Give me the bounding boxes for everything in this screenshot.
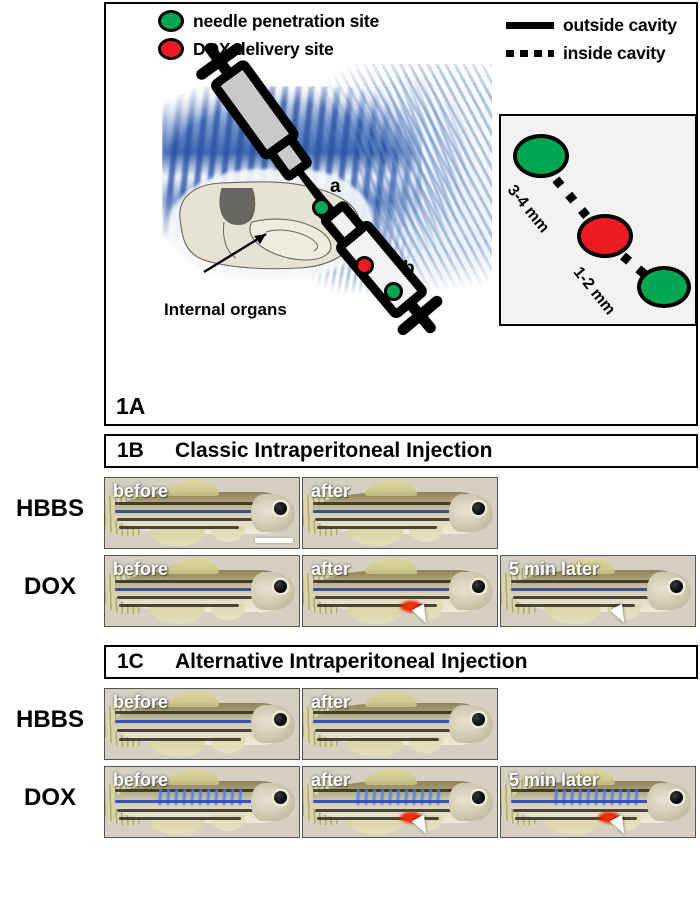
photo-cell-1c-dox-after: after	[302, 766, 498, 838]
dox-delivery-marker	[355, 256, 374, 275]
cell-tag-after: after	[311, 559, 350, 580]
photo-cell-1c-dox-5min: 5 min later	[500, 766, 696, 838]
scale-bar	[255, 538, 293, 543]
cell-tag-after: after	[311, 770, 350, 791]
photo-cell-1b-dox-before: before	[104, 555, 300, 627]
cell-tag-before: before	[113, 770, 168, 791]
cell-tag-5-min-later: 5 min later	[509, 770, 599, 791]
cell-tag-before: before	[113, 481, 168, 502]
panel-1c-title: Alternative Intraperitoneal Injection	[175, 650, 527, 674]
row-label-hbbs-1c: HBBS	[0, 706, 100, 734]
photo-cell-1c-dox-before: before	[104, 766, 300, 838]
panel-1b-title: Classic Intraperitoneal Injection	[175, 439, 492, 463]
inset-needle-site-bottom	[637, 266, 691, 308]
site-a-letter: a	[330, 176, 341, 198]
cell-tag-5-min-later: 5 min later	[509, 559, 599, 580]
needle-site-a-marker	[312, 198, 331, 217]
cell-tag-before: before	[113, 559, 168, 580]
photo-cell-1c-hbbs-before: before	[104, 688, 300, 760]
needle-site-b-marker	[384, 282, 403, 301]
site-b-letter: b	[403, 258, 415, 280]
inset-needle-site-top	[513, 134, 569, 178]
photo-row-1c-hbbs: before after	[104, 688, 498, 760]
cell-tag-before: before	[113, 692, 168, 713]
panel-1b-header: 1B Classic Intraperitoneal Injection	[104, 434, 698, 468]
photo-row-1b-hbbs: before after	[104, 477, 498, 549]
panel-1a-label: 1A	[116, 393, 145, 420]
panel-1c-label: 1C	[117, 650, 175, 674]
row-label-dox-1c: DOX	[0, 784, 100, 812]
row-label-dox-1b: DOX	[0, 573, 100, 601]
cell-tag-after: after	[311, 481, 350, 502]
photo-cell-1b-dox-5min: 5 min later	[500, 555, 696, 627]
photo-cell-1b-hbbs-before: before	[104, 477, 300, 549]
photo-cell-1b-dox-after: after	[302, 555, 498, 627]
photo-cell-1c-hbbs-after: after	[302, 688, 498, 760]
panel-1c-header: 1C Alternative Intraperitoneal Injection	[104, 645, 698, 679]
cell-tag-after: after	[311, 692, 350, 713]
distance-inset-box: 3-4 mm 1-2 mm	[499, 114, 697, 326]
inset-dox-site	[577, 214, 633, 258]
row-label-hbbs-1b: HBBS	[0, 495, 100, 523]
photo-row-1b-dox: before after 5 min later	[104, 555, 696, 627]
panel-1a: needle penetration site DOX delivery sit…	[104, 2, 698, 426]
panel-1b-label: 1B	[117, 439, 175, 463]
photo-row-1c-dox: before after 5	[104, 766, 696, 838]
photo-cell-1b-hbbs-after: after	[302, 477, 498, 549]
